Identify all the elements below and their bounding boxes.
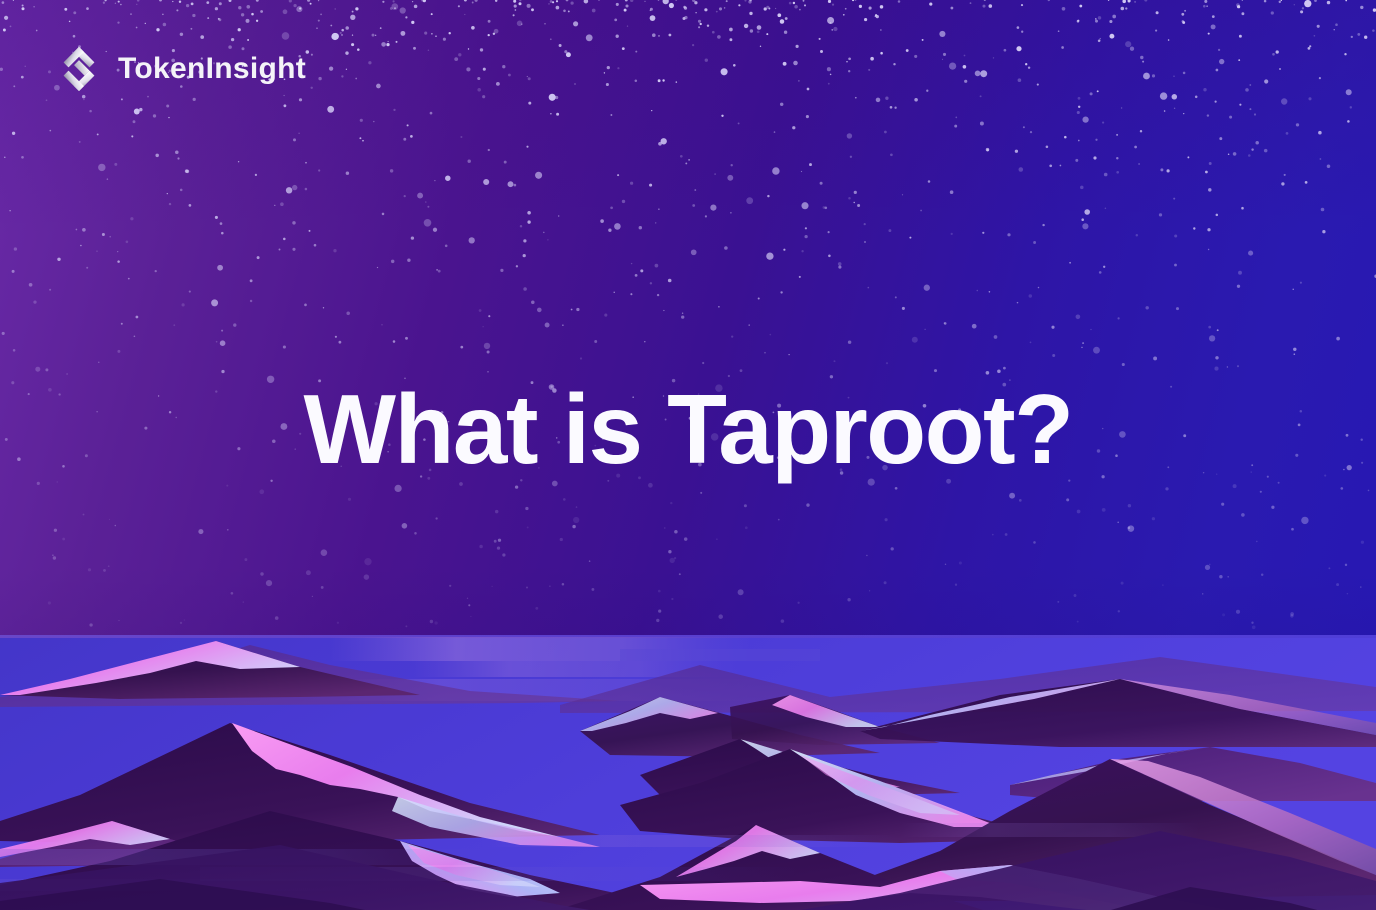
brand-logo[interactable]: TokenInsight — [54, 44, 306, 94]
brand-name-wordmark: TokenInsight — [118, 54, 306, 84]
mountain-landscape — [0, 635, 1376, 910]
horizon-line — [0, 635, 1376, 638]
page-title: What is Taproot? — [0, 378, 1376, 481]
hero-banner: TokenInsight What is Taproot? — [0, 0, 1376, 910]
tokeninsight-diamond-logo-icon — [54, 44, 104, 94]
page-title-text: What is Taproot? — [0, 378, 1376, 481]
